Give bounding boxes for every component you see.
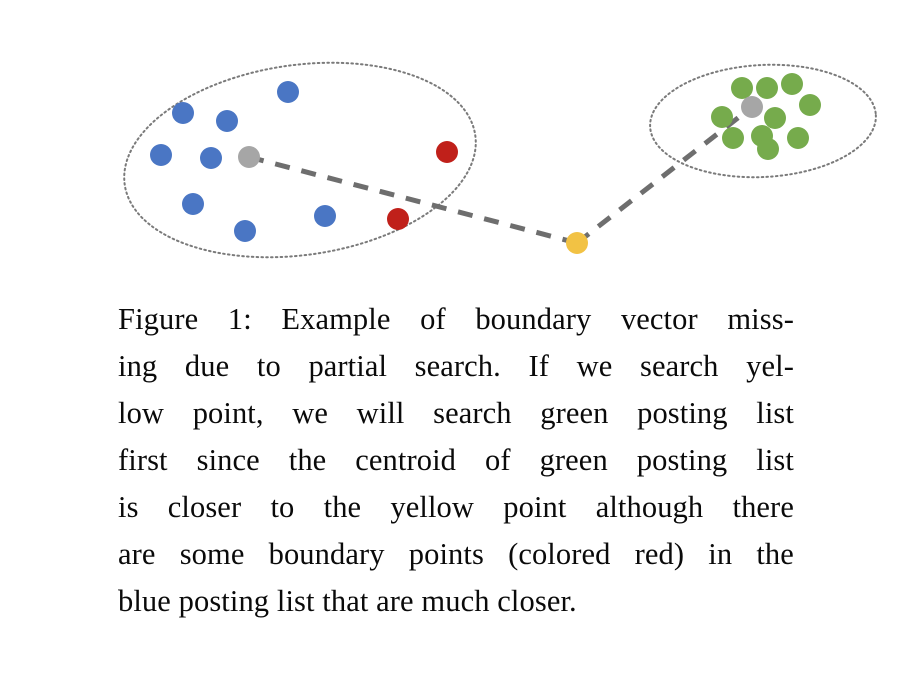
figure-caption: Figure1:Exampleofboundaryvectormiss- ing… xyxy=(118,296,794,625)
red-boundary-point-1 xyxy=(436,141,458,163)
green-point-3 xyxy=(781,73,803,95)
blue-point-8 xyxy=(314,205,336,227)
green-point-2 xyxy=(756,77,778,99)
green-point-11 xyxy=(731,77,753,99)
blue-point-3 xyxy=(277,81,299,103)
green-point-6 xyxy=(764,107,786,129)
caption-line-2: ingduetopartialsearch.Ifwesearchyel- xyxy=(118,343,794,390)
caption-line-5: isclosertotheyellowpointalthoughthere xyxy=(118,484,794,531)
blue-point-7 xyxy=(234,220,256,242)
red-boundary-point-2 xyxy=(387,208,409,230)
blue-point-2 xyxy=(216,110,238,132)
blue-point-4 xyxy=(150,144,172,166)
caption-line-6: aresomeboundarypoints(coloredred)inthe xyxy=(118,531,794,578)
blue-centroid xyxy=(238,146,260,168)
green-point-9 xyxy=(757,138,779,160)
dashed-path-to-blue-centroid xyxy=(249,157,577,243)
blue-point-6 xyxy=(182,193,204,215)
caption-line-4: firstsincethecentroidofgreenpostinglist xyxy=(118,437,794,484)
green-point-10 xyxy=(787,127,809,149)
green-point-5 xyxy=(799,94,821,116)
figure-page: Figure1:Exampleofboundaryvectormiss- ing… xyxy=(0,0,914,700)
green-centroid xyxy=(741,96,763,118)
green-posting-list-ellipse xyxy=(647,59,879,183)
caption-line-7: blue posting list that are much closer. xyxy=(118,578,794,625)
yellow-query-point xyxy=(566,232,588,254)
figure-illustration xyxy=(0,0,914,285)
caption-line-3: lowpoint,wewillsearchgreenpostinglist xyxy=(118,390,794,437)
green-point-7 xyxy=(722,127,744,149)
caption-line-1: Figure1:Exampleofboundaryvectormiss- xyxy=(118,296,794,343)
green-point-4 xyxy=(711,106,733,128)
blue-point-5 xyxy=(200,147,222,169)
cluster-diagram-svg xyxy=(0,0,914,285)
blue-point-1 xyxy=(172,102,194,124)
